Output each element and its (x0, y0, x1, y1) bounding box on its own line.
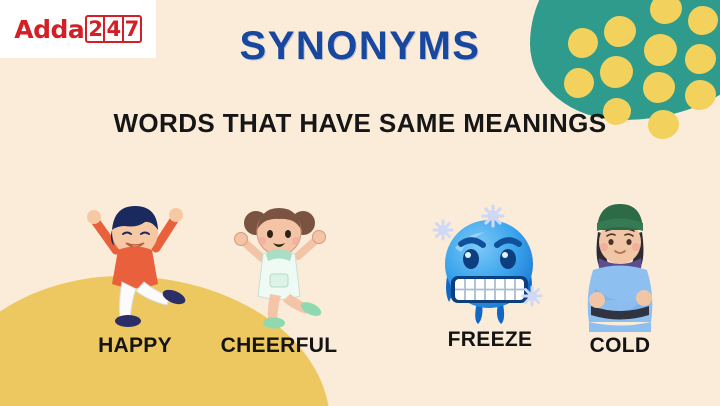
slide-canvas: Adda 2 4 7 SYNONYMS WORDS THAT HAVE SAME… (0, 0, 720, 406)
synonym-card-happy: HAPPY (60, 190, 210, 370)
page-title: SYNONYMS (0, 24, 720, 69)
jumping-girl-illustration (204, 190, 354, 335)
synonym-word-cold: COLD (545, 335, 695, 356)
synonym-word-freeze: FREEZE (415, 329, 565, 350)
synonym-card-row: HAPPY (0, 190, 720, 370)
synonym-card-freeze: FREEZE (415, 190, 565, 370)
cold-face-emoji (415, 190, 565, 335)
jumping-boy-illustration (60, 190, 210, 335)
synonym-card-cheerful: CHEERFUL (204, 190, 354, 370)
bundled-person-illustration (545, 190, 695, 335)
page-subtitle: WORDS THAT HAVE SAME MEANINGS (0, 108, 720, 139)
synonym-word-happy: HAPPY (60, 335, 210, 356)
synonym-word-cheerful: CHEERFUL (204, 335, 354, 356)
synonym-card-cold: COLD (545, 190, 695, 370)
